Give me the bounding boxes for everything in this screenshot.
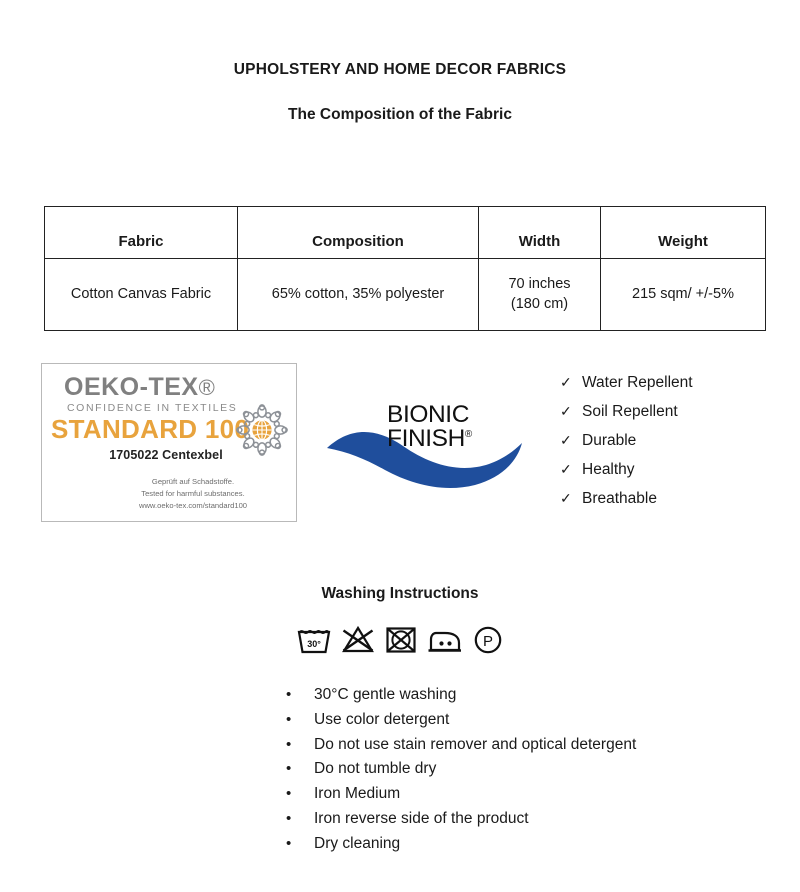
table-row: Cotton Canvas Fabric 65% cotton, 35% pol… [45, 259, 766, 331]
table-header-fabric: Fabric [45, 207, 238, 259]
oeko-tex-fine-print-en: Tested for harmful substances. [90, 488, 296, 500]
bullet-icon: • [286, 786, 314, 801]
list-item: • 30°C gentle washing [286, 686, 746, 711]
cell-width-inches: 70 inches [485, 275, 594, 294]
feature-label: Healthy [582, 461, 635, 479]
table-header-weight: Weight [601, 207, 766, 259]
fabric-spec-table: Fabric Composition Width Weight Cotton C… [44, 206, 765, 331]
iron-medium-two-dots-icon [427, 625, 463, 655]
feature-label: Soil Repellent [582, 403, 678, 421]
list-item: ✓ Soil Repellent [560, 403, 693, 432]
cell-fabric: Cotton Canvas Fabric [45, 259, 238, 331]
oeko-tex-certification-label: OEKO-TEX® CONFIDENCE IN TEXTILES STANDAR… [41, 363, 297, 522]
list-item: ✓ Water Repellent [560, 374, 693, 403]
bionic-line-1: BIONIC [387, 403, 472, 427]
list-item: ✓ Healthy [560, 461, 693, 490]
washing-instructions-list: • 30°C gentle washing • Use color deterg… [286, 686, 746, 860]
oeko-tex-certificate-number: 1705022 Centexbel [42, 448, 296, 462]
feature-label: Water Repellent [582, 374, 693, 392]
oeko-tex-fine-print-de: Geprüft auf Schadstoffe. [90, 476, 296, 488]
feature-checklist: ✓ Water Repellent ✓ Soil Repellent ✓ Dur… [560, 374, 693, 519]
instruction-label: Iron Medium [314, 785, 400, 803]
check-icon: ✓ [560, 374, 582, 391]
list-item: • Iron reverse side of the product [286, 810, 746, 835]
page-subtitle: The Composition of the Fabric [0, 106, 800, 124]
cell-width: 70 inches (180 cm) [479, 259, 601, 331]
bullet-icon: • [286, 687, 314, 702]
oeko-tex-tagline: CONFIDENCE IN TEXTILES [67, 402, 237, 414]
bionic-finish-logo: BIONIC FINISH® [325, 396, 525, 496]
check-icon: ✓ [560, 432, 582, 449]
oeko-tex-fine-print-url: www.oeko-tex.com/standard100 [90, 500, 296, 512]
list-item: ✓ Durable [560, 432, 693, 461]
bionic-line-2: FINISH® [387, 427, 472, 451]
care-symbol-row: 30° P [0, 625, 800, 655]
cell-width-cm: (180 cm) [485, 295, 594, 314]
registered-trademark-icon: ® [465, 429, 472, 440]
wash-30-gentle-icon: 30° [297, 625, 331, 655]
instruction-label: Dry cleaning [314, 835, 400, 853]
instruction-label: Do not use stain remover and optical det… [314, 736, 636, 754]
bullet-icon: • [286, 836, 314, 851]
registered-trademark-icon: ® [199, 375, 216, 400]
oeko-tex-fine-print: Geprüft auf Schadstoffe. Tested for harm… [42, 476, 296, 511]
feature-label: Breathable [582, 490, 657, 508]
page-title: UPHOLSTERY AND HOME DECOR FABRICS [0, 61, 800, 79]
cell-composition: 65% cotton, 35% polyester [238, 259, 479, 331]
oeko-tex-brand-text: OEKO-TEX [64, 373, 199, 401]
bionic-finish-wordmark: BIONIC FINISH® [387, 403, 472, 452]
list-item: • Do not tumble dry [286, 760, 746, 785]
bullet-icon: • [286, 712, 314, 727]
dry-clean-code-label: P [483, 633, 493, 650]
bullet-icon: • [286, 737, 314, 752]
do-not-tumble-dry-icon [385, 625, 417, 655]
check-icon: ✓ [560, 461, 582, 478]
instruction-label: Iron reverse side of the product [314, 810, 529, 828]
list-item: • Use color detergent [286, 711, 746, 736]
table-header-row: Fabric Composition Width Weight [45, 207, 766, 259]
list-item: • Iron Medium [286, 785, 746, 810]
list-item: ✓ Breathable [560, 490, 693, 519]
instruction-label: Use color detergent [314, 711, 449, 729]
dry-clean-petroleum-p-icon: P [473, 625, 503, 655]
check-icon: ✓ [560, 403, 582, 420]
washing-instructions-title: Washing Instructions [0, 585, 800, 603]
feature-label: Durable [582, 432, 636, 450]
do-not-bleach-icon [341, 625, 375, 655]
instruction-label: Do not tumble dry [314, 760, 436, 778]
list-item: • Do not use stain remover and optical d… [286, 736, 746, 761]
table-header-width: Width [479, 207, 601, 259]
oeko-tex-standard: STANDARD 100 [51, 414, 249, 445]
cell-weight: 215 sqm/ +/-5% [601, 259, 766, 331]
bullet-icon: • [286, 761, 314, 776]
wash-temp-label: 30° [307, 639, 321, 649]
list-item: • Dry cleaning [286, 835, 746, 860]
oeko-tex-brand: OEKO-TEX® [64, 373, 215, 402]
bionic-line-2-text: FINISH [387, 425, 465, 452]
table-header-composition: Composition [238, 207, 479, 259]
instruction-label: 30°C gentle washing [314, 686, 456, 704]
check-icon: ✓ [560, 490, 582, 507]
bullet-icon: • [286, 811, 314, 826]
